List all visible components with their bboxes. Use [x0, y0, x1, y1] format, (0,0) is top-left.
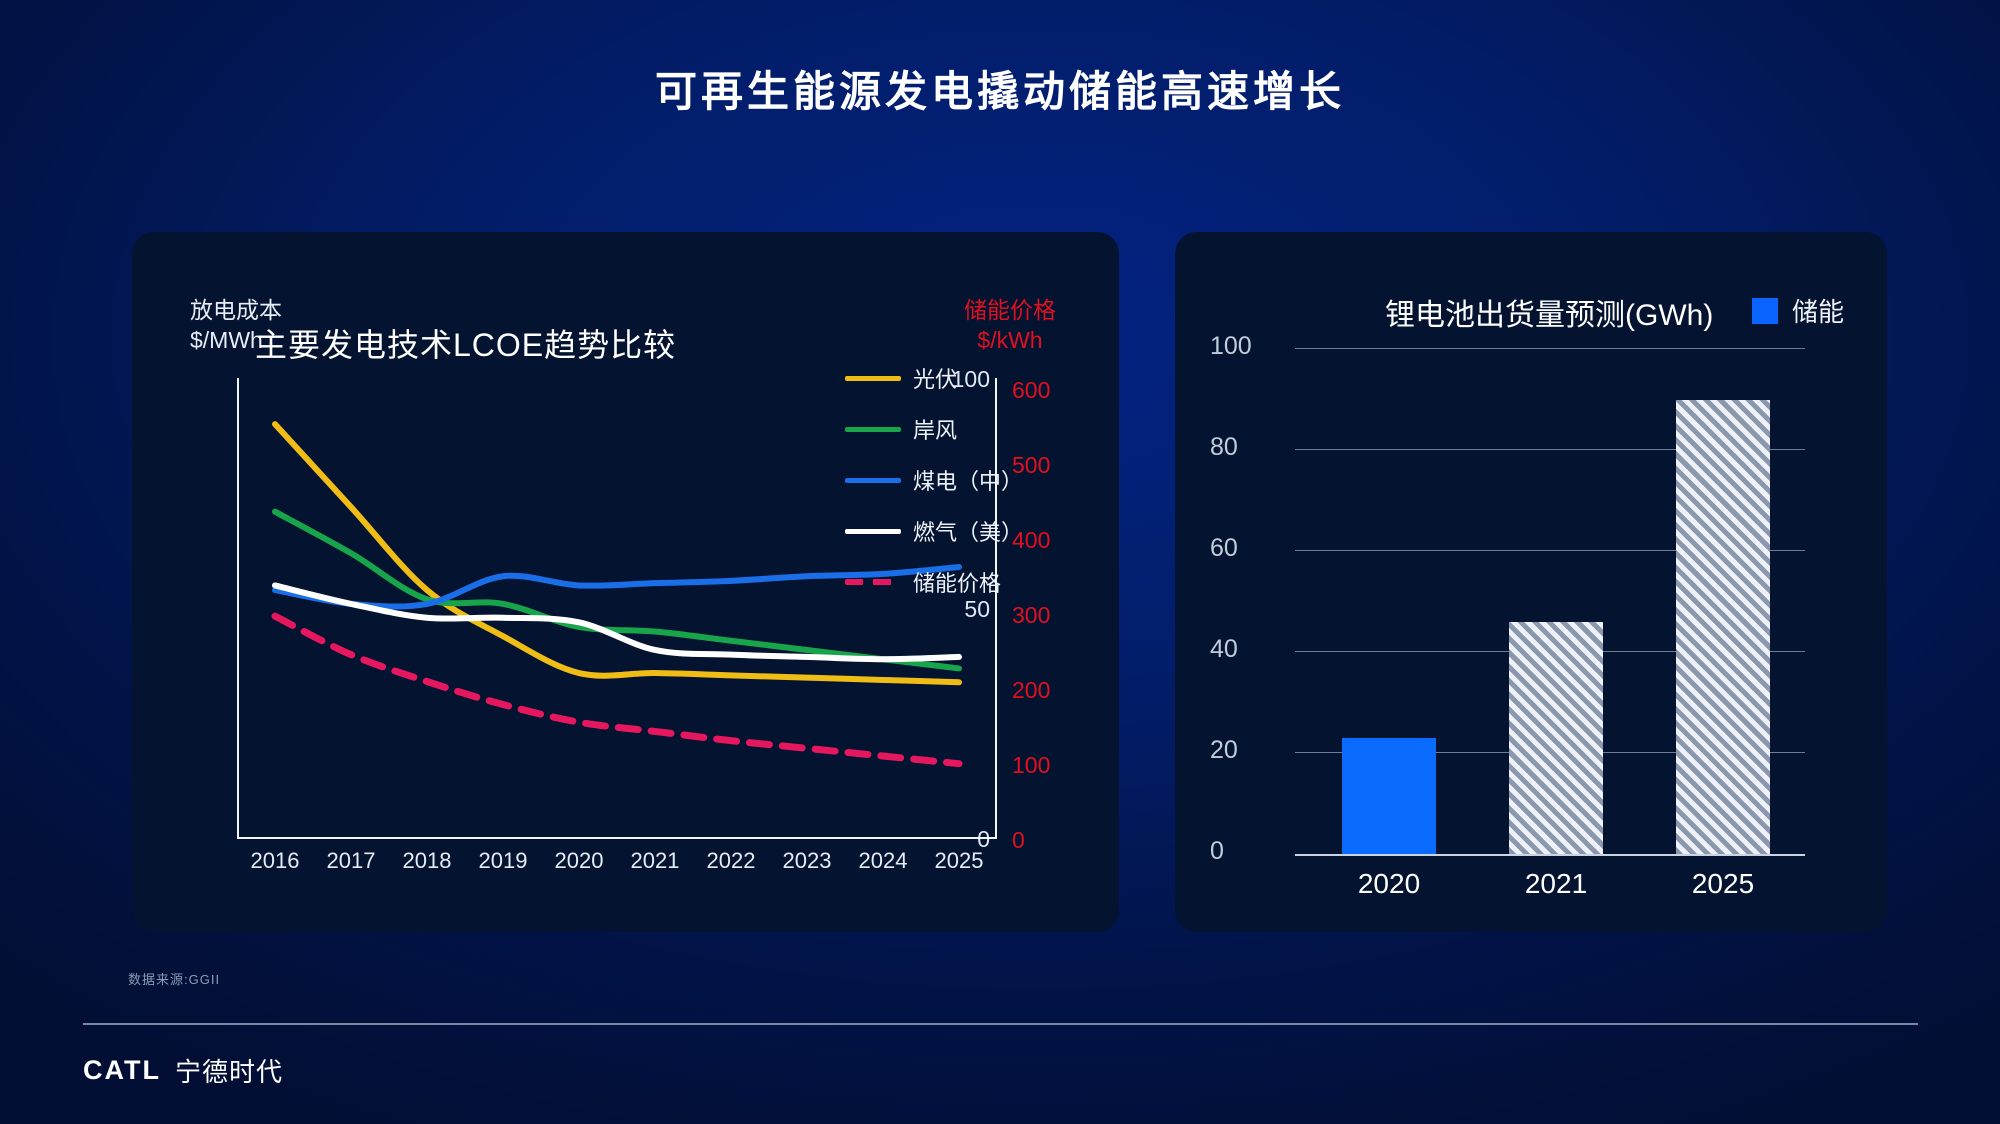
shipments-legend: 储能 — [1752, 292, 1844, 329]
lcoe-xtick-2019: 2019 — [465, 848, 541, 874]
bar-2025[interactable] — [1676, 400, 1770, 855]
legend-swatch-solar-icon — [845, 376, 901, 381]
shipments-plot-area — [1295, 348, 1805, 856]
shipments-xtick-2020: 2020 — [1358, 868, 1420, 900]
source-note: 数据来源:GGII — [128, 969, 220, 988]
shipments-ytick-0: 0 — [1210, 837, 1224, 866]
lcoe-y2tick-200: 200 — [1012, 677, 1050, 704]
legend-swatch-storage-icon — [1752, 298, 1778, 324]
lcoe-xtick-2022: 2022 — [693, 848, 769, 874]
lcoe-y2-axis-label-line2: $/kWh — [955, 325, 1065, 355]
shipments-ytick-80: 80 — [1210, 433, 1238, 462]
legend-label-gas-us: 燃气（美） — [913, 515, 1023, 547]
lcoe-xtick-2020: 2020 — [541, 848, 617, 874]
lcoe-xtick-2023: 2023 — [769, 848, 845, 874]
bar-2021[interactable] — [1509, 622, 1603, 854]
lcoe-xtick-2017: 2017 — [313, 848, 389, 874]
lcoe-chart-title: 主要发电技术LCOE趋势比较 — [255, 320, 676, 366]
lcoe-legend: 光伏 岸风 煤电（中） 燃气（美） 储能价格 — [845, 362, 1023, 598]
lcoe-y2tick-0: 0 — [1012, 827, 1025, 854]
lcoe-xtick-2016: 2016 — [237, 848, 313, 874]
shipments-ytick-40: 40 — [1210, 635, 1238, 664]
shipments-xtick-2025: 2025 — [1692, 868, 1754, 900]
lcoe-y2-axis-label: 储能价格 $/kWh — [955, 295, 1065, 355]
bar-2020[interactable] — [1342, 738, 1436, 854]
shipments-ytick-100: 100 — [1210, 332, 1252, 361]
legend-swatch-gas-us-icon — [845, 529, 901, 534]
lcoe-axis-bottom-spine — [237, 837, 997, 839]
lcoe-xtick-2021: 2021 — [617, 848, 693, 874]
brand-logo-latin: CATL — [83, 1055, 161, 1086]
shipments-xtick-2021: 2021 — [1525, 868, 1587, 900]
page-title: 可再生能源发电撬动储能高速增长 — [0, 58, 2000, 119]
shipments-baseline — [1295, 854, 1805, 856]
lcoe-xtick-2018: 2018 — [389, 848, 465, 874]
legend-label-coal-cn: 煤电（中） — [913, 464, 1023, 496]
lcoe-xtick-2025: 2025 — [921, 848, 997, 874]
legend-item-onshore-wind: 岸风 — [845, 413, 1023, 445]
brand-logo: CATL 宁德时代 — [83, 1052, 283, 1089]
lcoe-y2tick-100: 100 — [1012, 752, 1050, 779]
legend-label-storage: 储能 — [1792, 292, 1844, 329]
lcoe-x-axis: 2016 2017 2018 2019 2020 2021 2022 2023 … — [237, 848, 997, 874]
legend-label-solar: 光伏 — [913, 362, 957, 394]
shipments-chart-title: 锂电池出货量预测(GWh) — [1385, 290, 1713, 334]
shipments-ytick-60: 60 — [1210, 534, 1238, 563]
legend-item-solar: 光伏 — [845, 362, 1023, 394]
footer-divider — [83, 1023, 1918, 1025]
shipments-ytick-20: 20 — [1210, 736, 1238, 765]
lcoe-xtick-2024: 2024 — [845, 848, 921, 874]
slide-root: 可再生能源发电撬动储能高速增长 放电成本 $/MWh 储能价格 $/kWh 主要… — [0, 0, 2000, 1124]
legend-label-onshore-wind: 岸风 — [913, 413, 957, 445]
legend-swatch-onshore-wind-icon — [845, 427, 901, 432]
gridline-100 — [1295, 348, 1805, 349]
legend-swatch-storage-price-icon — [845, 579, 901, 585]
lcoe-axis-left-spine — [237, 378, 239, 839]
legend-item-coal-cn: 煤电（中） — [845, 464, 1023, 496]
lcoe-y2tick-300: 300 — [1012, 602, 1050, 629]
legend-item-storage-price: 储能价格 — [845, 566, 1023, 598]
legend-swatch-coal-cn-icon — [845, 478, 901, 483]
legend-label-storage-price: 储能价格 — [913, 566, 1001, 598]
lcoe-y2-axis-label-line1: 储能价格 — [955, 295, 1065, 325]
brand-logo-chinese: 宁德时代 — [175, 1052, 283, 1089]
legend-item-gas-us: 燃气（美） — [845, 515, 1023, 547]
